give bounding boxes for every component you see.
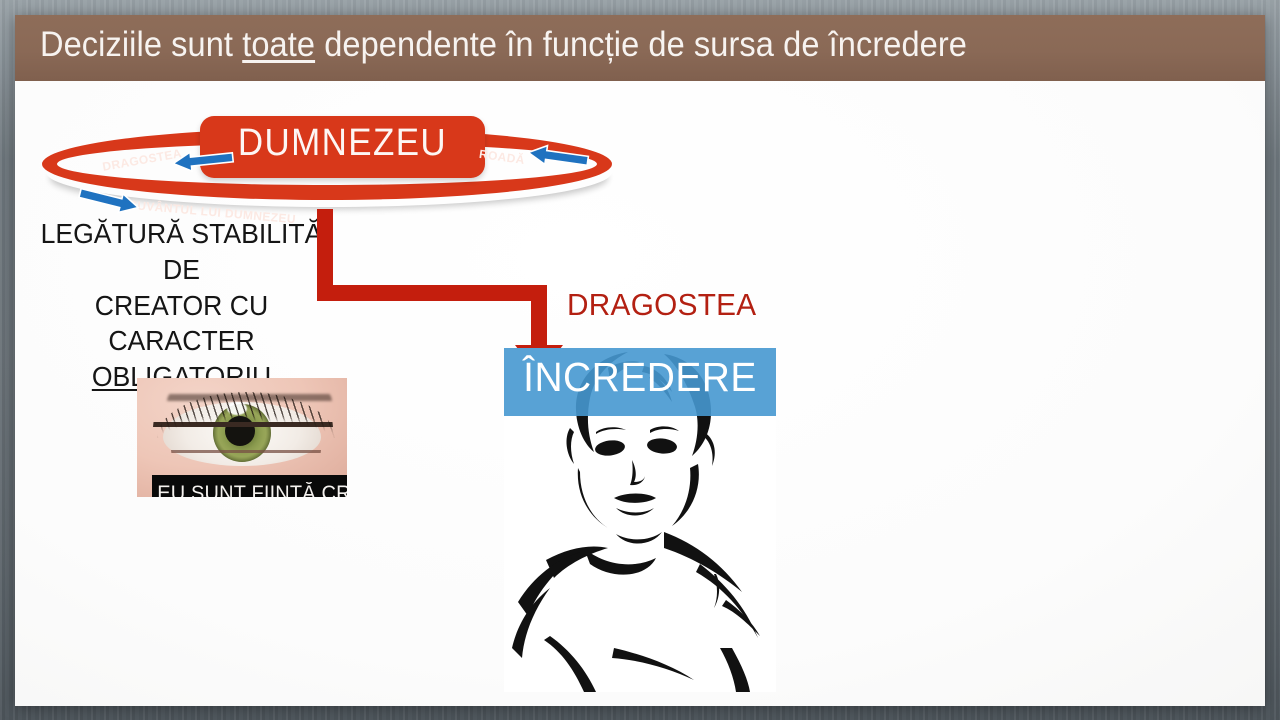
eye-caption-bar: EU SUNT FIINȚĂ CREATĂ bbox=[152, 475, 347, 497]
slide-body: Deciziile sunt toate dependente în funcț… bbox=[15, 15, 1265, 706]
incredere-label: ÎNCREDERE bbox=[511, 354, 769, 401]
incredere-banner: ÎNCREDERE bbox=[504, 348, 776, 416]
legatura-text-block: LEGĂTURĂ STABILITĂ DE CREATOR CU CARACTE… bbox=[37, 216, 327, 395]
title-emphasis: toate bbox=[242, 25, 315, 64]
legatura-line-1: LEGĂTURĂ STABILITĂ DE bbox=[37, 216, 327, 288]
page-title: Deciziile sunt toate dependente în funcț… bbox=[40, 25, 967, 65]
title-prefix: Deciziile sunt bbox=[40, 25, 242, 64]
eye-caption-text: EU SUNT FIINȚĂ CREATĂ bbox=[157, 482, 347, 497]
slide-frame: Deciziile sunt toate dependente în funcț… bbox=[0, 0, 1280, 720]
blue-arrow-left-icon bbox=[170, 151, 234, 171]
blue-arrow-right-icon bbox=[78, 191, 142, 211]
slide-title-bar: Deciziile sunt toate dependente în funcț… bbox=[15, 15, 1265, 81]
legatura-line-2: CREATOR CU CARACTER bbox=[37, 288, 327, 360]
dragostea-flow-label: DRAGOSTEA bbox=[567, 287, 756, 323]
dumnezeu-label: DUMNEZEU bbox=[211, 122, 473, 165]
blue-arrow-left-icon-2 bbox=[525, 147, 589, 167]
eye-image-card: EU SUNT FIINȚĂ CREATĂ bbox=[137, 378, 347, 497]
title-suffix: dependente în funcție de sursa de încred… bbox=[315, 25, 967, 64]
dumnezeu-node: DUMNEZEU bbox=[200, 116, 485, 178]
